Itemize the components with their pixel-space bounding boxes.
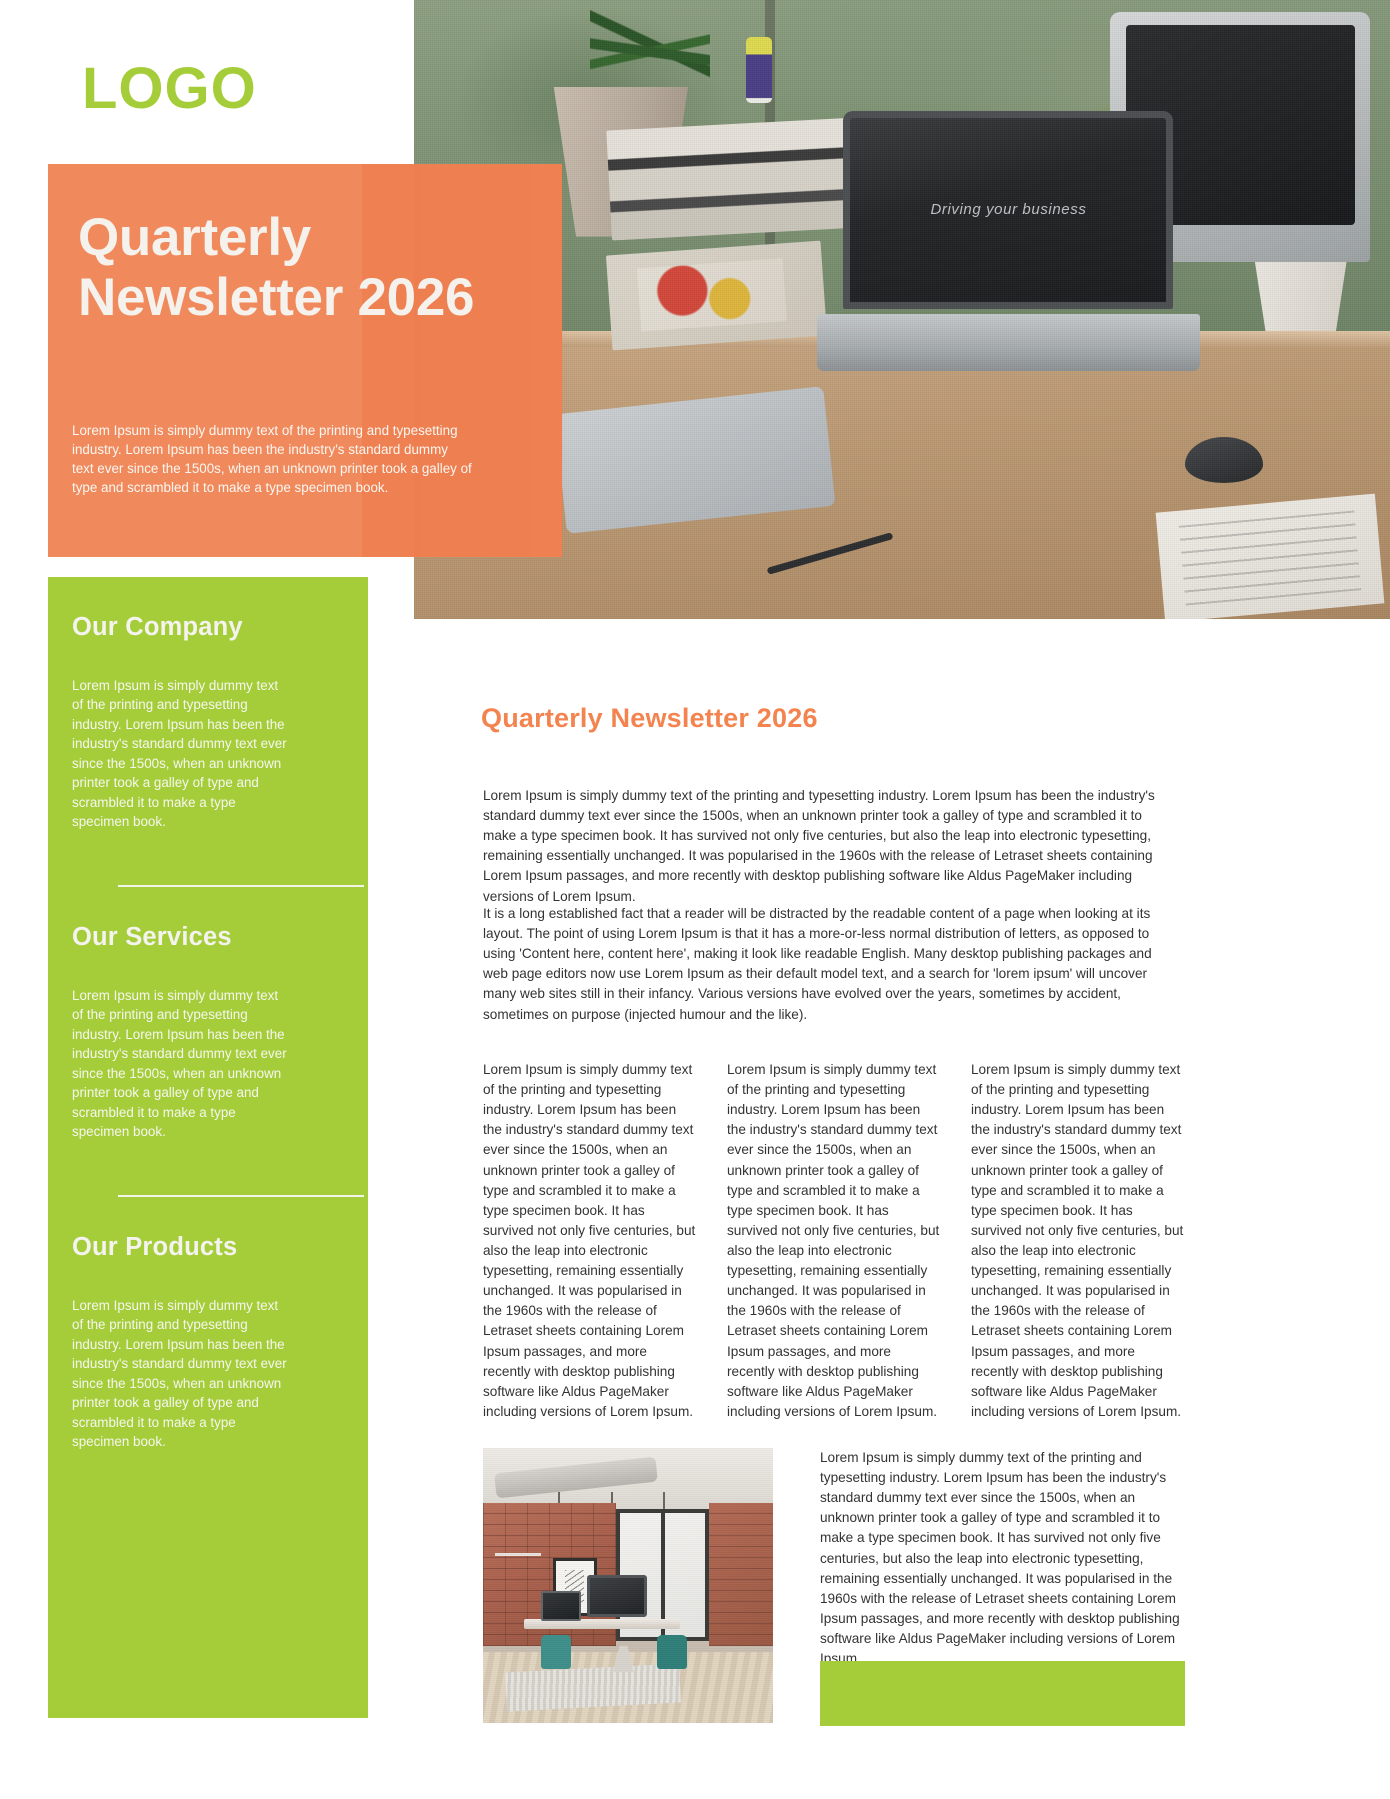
column-text-1: Lorem Ipsum is simply dummy text of the … <box>483 1060 697 1422</box>
footer-green-bar <box>820 1661 1185 1726</box>
laptop-screen: Driving your business <box>843 111 1173 309</box>
hero-description: Lorem Ipsum is simply dummy text of the … <box>72 421 472 498</box>
main-heading: Quarterly Newsletter 2026 <box>481 703 818 734</box>
office-chair-icon-1 <box>541 1635 571 1669</box>
sidebar-section-our-services: Our Services Lorem Ipsum is simply dummy… <box>48 923 368 1142</box>
magazine-cover-art <box>637 258 787 331</box>
column-text-2: Lorem Ipsum is simply dummy text of the … <box>727 1060 941 1422</box>
column-text-3: Lorem Ipsum is simply dummy text of the … <box>971 1060 1185 1422</box>
laptop-screen-caption: Driving your business <box>850 201 1166 218</box>
office-monitor-icon <box>587 1575 647 1617</box>
logo: LOGO <box>82 60 257 118</box>
sidebar-body-our-company: Lorem Ipsum is simply dummy text of the … <box>72 676 290 832</box>
sidebar-divider-1 <box>118 885 364 887</box>
sidebar-body-our-products: Lorem Ipsum is simply dummy text of the … <box>72 1296 290 1452</box>
main-paragraph-2: It is a long established fact that a rea… <box>483 904 1175 1025</box>
office-stool-icon <box>614 1646 634 1672</box>
sidebar-section-our-company: Our Company Lorem Ipsum is simply dummy … <box>48 613 368 832</box>
sidebar-title-our-company: Our Company <box>72 613 368 642</box>
sidebar-section-our-products: Our Products Lorem Ipsum is simply dummy… <box>48 1233 368 1452</box>
laptop-keyboard-base <box>817 314 1200 371</box>
newsletter-page: Driving your business LOGO Quarterly New… <box>0 0 1390 1799</box>
sidebar: Our Company Lorem Ipsum is simply dummy … <box>48 577 368 1718</box>
sidebar-body-our-services: Lorem Ipsum is simply dummy text of the … <box>72 986 290 1142</box>
feature-photo-office-interior <box>483 1448 773 1723</box>
paper-lines <box>1179 511 1361 605</box>
sidebar-title-our-services: Our Services <box>72 923 368 952</box>
spray-bottle-icon <box>746 37 772 103</box>
wall-shelf <box>495 1553 541 1556</box>
office-laptop-icon <box>541 1591 581 1621</box>
three-column-section: Lorem Ipsum is simply dummy text of the … <box>483 1060 1185 1422</box>
brick-wall-right <box>709 1503 773 1646</box>
magazine-icon <box>606 240 827 350</box>
paper-sheet-icon <box>1156 493 1385 619</box>
sidebar-title-our-products: Our Products <box>72 1233 368 1262</box>
book-stack-icon <box>606 117 861 240</box>
office-chair-icon-2 <box>657 1635 687 1669</box>
main-paragraph-1: Lorem Ipsum is simply dummy text of the … <box>483 786 1175 907</box>
sidebar-divider-2 <box>118 1195 364 1197</box>
hero-title: Quarterly Newsletter 2026 <box>78 208 498 328</box>
feature-paragraph: Lorem Ipsum is simply dummy text of the … <box>820 1448 1185 1669</box>
laptop-icon: Driving your business <box>843 111 1173 371</box>
